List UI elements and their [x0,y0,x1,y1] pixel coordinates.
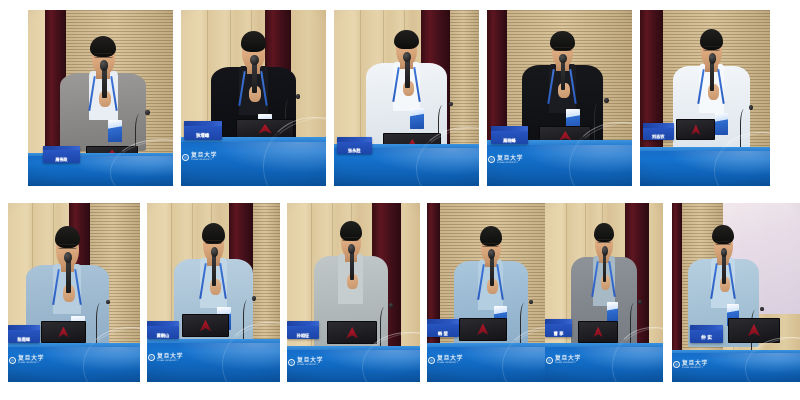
name-placard: 狄增峰 [184,121,222,140]
eyeglasses [342,237,359,241]
fudan-university-logo: 复旦大学FUDAN UNIVERSITY [428,356,463,364]
placard-name-text: 陈周晖 [8,338,40,342]
eyeglasses [94,53,113,57]
eyeglasses [482,243,499,247]
placard-header-strip [643,123,674,128]
collage-photo-5-row1: 刘志农 [640,10,770,186]
collage-photo-1-row1: 周伟政 [28,10,173,186]
microphone-head [709,53,716,63]
fudan-university-logo: 复旦大学FUDAN UNIVERSITY [148,354,183,362]
conference-badge [410,108,423,129]
gooseneck-mic-capsule [106,300,110,305]
conference-badge [715,113,728,136]
fudan-logo-en: FUDAN UNIVERSITY [555,362,581,364]
fudan-logo-en: FUDAN UNIVERSITY [437,362,463,364]
fudan-seal-icon [182,154,189,161]
eyeglasses [703,46,720,50]
placard-header-strip [43,146,81,151]
gooseneck-mic-capsule [296,94,300,99]
placard-header-strip [8,325,40,330]
fudan-logo-text: 复旦大学FUDAN UNIVERSITY [18,356,44,364]
placard-header-strip [147,321,179,326]
speaker-podium: 复旦大学FUDAN UNIVERSITY [427,343,560,382]
fudan-seal-icon [148,354,155,361]
fudan-university-logo: 复旦大学FUDAN UNIVERSITY [488,156,523,164]
speaker-podium [640,147,770,186]
gooseneck-mic-capsule [638,300,642,305]
placard-header-strip [427,319,459,324]
placard-header-strip [287,321,319,326]
fudan-logo-text: 复旦大学FUDAN UNIVERSITY [497,156,523,164]
fudan-logo-text: 复旦大学FUDAN UNIVERSITY [682,361,708,369]
name-placard: 张永胜 [337,137,372,155]
eyeglasses [715,241,731,245]
collage-photo-4-row1: 复旦大学FUDAN UNIVERSITY高晓峰 [487,10,632,186]
fudan-seal-icon [488,156,495,163]
conference-badge [108,120,122,143]
speaker-podium: 复旦大学FUDAN UNIVERSITY [545,343,663,382]
fudan-logo-en: FUDAN UNIVERSITY [497,162,523,164]
placard-header-strip [545,319,572,324]
collage-photo-2-row2: 复旦大学FUDAN UNIVERSITY黄朝山 [147,203,280,382]
name-placard: 韩 堃 [427,319,459,337]
fudan-logo-text: 复旦大学FUDAN UNIVERSITY [297,358,323,366]
name-placard: 高晓峰 [491,126,527,144]
placard-header-strip [690,325,723,330]
gooseneck-mic-capsule [749,105,753,110]
placard-name-text: 周伟政 [43,158,81,162]
fudan-seal-icon [288,359,295,366]
fudan-logo-text: 复旦大学FUDAN UNIVERSITY [191,153,217,161]
placard-name-text: 韩 堃 [427,332,459,336]
placard-header-strip [184,121,222,126]
fudan-university-logo: 复旦大学FUDAN UNIVERSITY [9,356,44,364]
collage-photo-1-row2: 复旦大学FUDAN UNIVERSITY陈周晖 [8,203,140,382]
fudan-university-logo: 复旦大学FUDAN UNIVERSITY [182,153,217,161]
fudan-seal-icon [9,357,16,364]
speaker-hair [241,31,267,52]
fudan-seal-icon [546,357,553,364]
placard-header-strip [491,126,527,131]
collage-photo-3-row1: 张永胜 [334,10,479,186]
collage-photo-4-row2: 复旦大学FUDAN UNIVERSITY韩 堃 [427,203,560,382]
fudan-logo-en: FUDAN UNIVERSITY [297,364,323,366]
gooseneck-mic-capsule [252,296,256,301]
gooseneck-mic-capsule [604,98,608,103]
speaker-hair [394,30,418,49]
fudan-logo-en: FUDAN UNIVERSITY [18,362,44,364]
placard-name-text: 黄朝山 [147,334,179,338]
fudan-logo-en: FUDAN UNIVERSITY [157,360,183,362]
placard-name-text: 狄增峰 [184,135,222,139]
photo-collage: 周伟政复旦大学FUDAN UNIVERSITY狄增峰张永胜复旦大学FUDAN U… [0,0,800,400]
speaker-podium: 复旦大学FUDAN UNIVERSITY [147,339,280,382]
gooseneck-mic-capsule [145,110,149,115]
placard-name-text: 曹 孪 [545,332,572,336]
placard-name-text: 张永胜 [337,149,372,153]
placard-header-strip [337,137,372,142]
speaker-podium: 复旦大学FUDAN UNIVERSITY [487,140,632,186]
fudan-logo-en: FUDAN UNIVERSITY [682,367,708,369]
fudan-logo-text: 复旦大学FUDAN UNIVERSITY [157,354,183,362]
collage-photo-3-row2: 复旦大学FUDAN UNIVERSITY孙相征 [287,203,420,382]
speaker-podium: 复旦大学FUDAN UNIVERSITY [672,350,800,382]
speaker-podium: 复旦大学FUDAN UNIVERSITY [8,343,140,382]
fudan-seal-icon [428,357,435,364]
fudan-logo-en: FUDAN UNIVERSITY [191,159,217,161]
collage-photo-6-row2: 复旦大学FUDAN UNIVERSITY仲 实 [672,203,800,382]
speaker-podium: 复旦大学FUDAN UNIVERSITY [181,137,326,186]
name-placard: 孙相征 [287,321,319,339]
name-placard: 周伟政 [43,146,81,164]
eyeglasses [58,244,77,249]
collage-photo-5-row2: 复旦大学FUDAN UNIVERSITY曹 孪 [545,203,663,382]
placard-name-text: 孙相征 [287,334,319,338]
gooseneck-mic-capsule [449,102,453,107]
eyeglasses [597,239,612,243]
microphone-head [602,246,608,256]
eyeglasses [553,47,571,51]
name-placard: 刘志农 [643,123,674,141]
name-placard: 陈周晖 [8,325,40,343]
speaker-podium: 复旦大学FUDAN UNIVERSITY [287,346,420,382]
placard-name-text: 刘志农 [643,135,674,139]
microphone-head [403,52,411,62]
fudan-university-logo: 复旦大学FUDAN UNIVERSITY [288,358,323,366]
fudan-seal-icon [673,361,680,368]
fudan-university-logo: 复旦大学FUDAN UNIVERSITY [673,361,708,369]
collage-photo-2-row1: 复旦大学FUDAN UNIVERSITY狄增峰 [181,10,326,186]
eyeglasses [205,240,223,244]
name-placard: 仲 实 [690,325,723,343]
name-placard: 曹 孪 [545,319,572,337]
name-placard: 黄朝山 [147,321,179,339]
fudan-university-logo: 复旦大学FUDAN UNIVERSITY [546,356,581,364]
fudan-logo-text: 复旦大学FUDAN UNIVERSITY [437,356,463,364]
fudan-logo-text: 复旦大学FUDAN UNIVERSITY [555,356,581,364]
placard-name-text: 仲 实 [690,337,723,342]
microphone-head [348,244,355,254]
placard-name-text: 高晓峰 [491,139,527,143]
microphone-head [250,55,258,65]
